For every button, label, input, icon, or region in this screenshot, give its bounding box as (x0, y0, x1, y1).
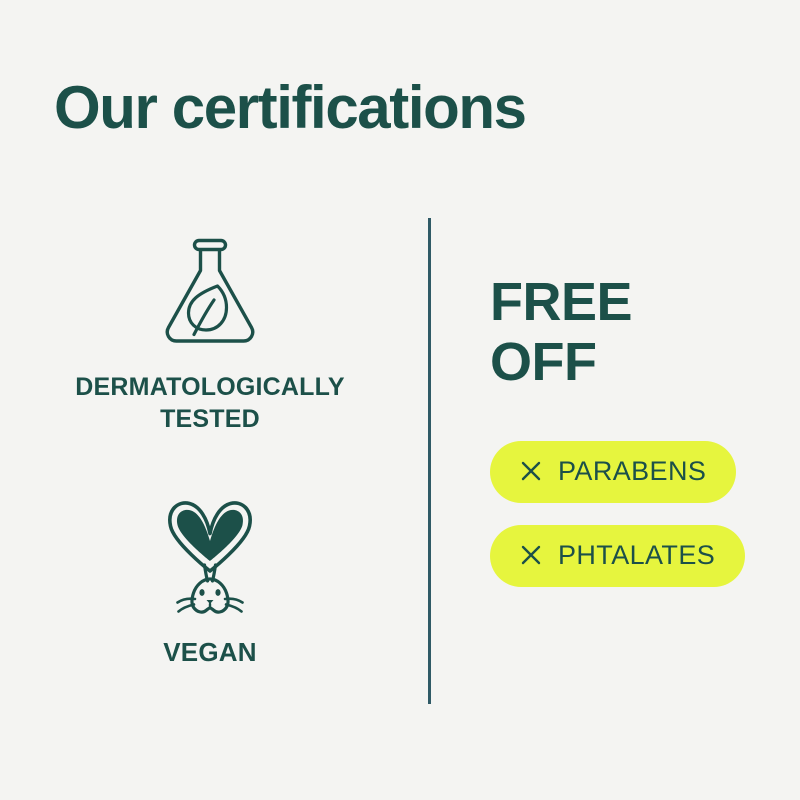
certifications-list: DERMATOLOGICALLY TESTED (0, 230, 420, 669)
x-icon (520, 544, 542, 566)
certification-item-dermatologically-tested: DERMATOLOGICALLY TESTED (30, 230, 390, 435)
vertical-divider (428, 218, 431, 704)
free-off-section: FREE OFF PARABENS PHTALATES (490, 272, 780, 587)
certification-item-vegan: VEGAN (150, 493, 270, 669)
page-title: Our certifications (54, 76, 526, 139)
free-off-pill-list: PARABENS PHTALATES (490, 441, 780, 587)
free-off-pill-phtalates[interactable]: PHTALATES (490, 525, 745, 587)
free-off-heading-line-1: FREE (490, 272, 780, 332)
free-off-heading: FREE OFF (490, 272, 780, 393)
free-off-heading-line-2: OFF (490, 332, 780, 392)
certification-label: DERMATOLOGICALLY TESTED (30, 371, 390, 435)
certifications-panel: Our certifications DERMATOLOGICALLY TEST… (0, 0, 800, 800)
certification-label: VEGAN (163, 636, 256, 669)
free-off-pill-parabens[interactable]: PARABENS (490, 441, 736, 503)
bunny-heart-ears-icon (150, 493, 270, 624)
x-icon (520, 460, 542, 482)
free-off-pill-label: PHTALATES (558, 540, 715, 571)
free-off-pill-label: PARABENS (558, 456, 706, 487)
flask-leaf-icon (150, 230, 270, 355)
